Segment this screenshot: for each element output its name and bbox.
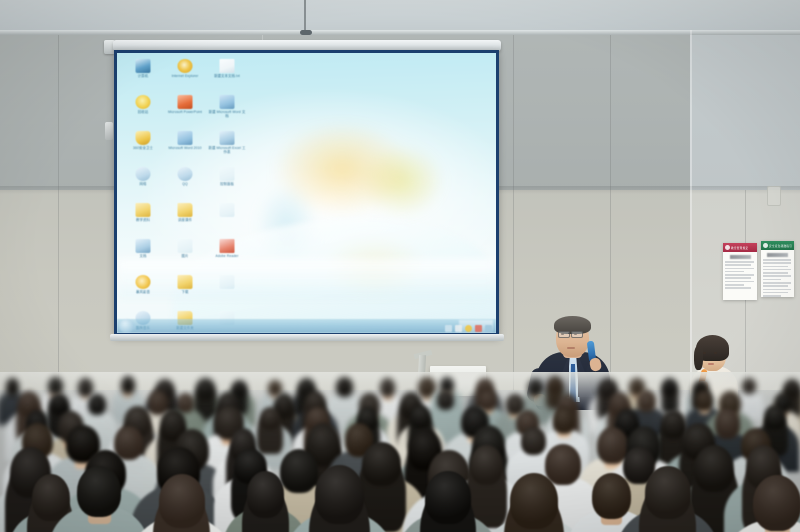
network-tray-icon[interactable] [445,325,452,332]
downloads-folder-icon [178,275,193,289]
audience-member-head [260,407,281,430]
poster-seal-icon [763,243,768,248]
security-tray-icon[interactable] [465,325,472,332]
desktop-icon-label: 新建 Microsoft Excel 工作表 [207,146,247,154]
word-document-icon [220,95,235,109]
desktop-icon-row: 360安全卫士Microsoft Word 2010新建 Microsoft E… [123,130,253,162]
taskbar[interactable] [117,319,496,333]
desktop-icon[interactable]: 教学资料 [123,202,163,234]
audience-member-head [247,471,284,517]
desktop-icon[interactable]: Internet Explorer [165,58,205,90]
desktop-icon-row: 文档图片Adobe Reader [123,238,253,270]
lecture-hall-photo: 计算机Internet Explorer新建文本文档.txt回收站Microso… [0,0,800,532]
desktop-icon[interactable]: 讲座课件 [165,202,205,234]
audience-member-head [32,474,70,522]
speaker-mouth [567,347,575,349]
audience-member-head [753,475,800,531]
folder-icon [178,203,193,217]
poster-title-bar [730,255,751,259]
ceiling-lip [0,30,800,35]
desktop-icon-label: 控制面板 [207,182,247,186]
desktop-icon[interactable]: 新建 Microsoft Excel 工作表 [207,130,247,162]
desktop-icon-label: QQ [165,182,205,186]
computer-icon [136,59,151,73]
desktop-icon[interactable]: Adobe Reader [207,238,247,270]
audience-member-head [637,390,656,411]
audience-member-head [88,394,105,415]
poster-seal-icon [725,245,730,250]
interpreter-eye-left [703,352,706,354]
update-tray-icon[interactable] [475,325,482,332]
wall-seam [513,35,514,390]
poster-body [723,252,757,289]
word-icon [178,131,193,145]
start-button[interactable] [119,319,134,333]
audience-member-head [510,473,559,529]
glasses-lens-right-icon [571,331,583,338]
wall-corner [690,30,692,390]
desktop-icon[interactable]: Microsoft PowerPoint [165,94,205,126]
media-player-icon [136,275,151,289]
audience-member-head [437,390,454,409]
desktop-icon-row: 网络QQ控制面板 [123,166,253,198]
poster-title-bar [767,253,787,257]
desktop-icon[interactable]: 新建 Microsoft Word 文档 [207,94,247,126]
audience-member-head [196,378,214,399]
desktop-icon-label: 网络 [123,182,163,186]
notice-poster-green: 安全应急疏散指引 [761,241,794,297]
desktop-icon[interactable] [207,202,247,234]
desktop-icon-label: 360安全卫士 [123,146,163,150]
screen-bottom-weight-bar [110,334,504,341]
desktop-icon[interactable]: 回收站 [123,94,163,126]
right-wall-upper [690,30,800,192]
desktop-icon[interactable]: 下载 [165,274,205,306]
audience-member-head [662,378,677,395]
ceiling-hook [304,0,306,34]
shield-icon [136,131,151,145]
pictures-icon [178,239,193,253]
desktop-icon-label: Adobe Reader [207,254,247,258]
desktop-icon-label: 下载 [165,290,205,294]
poster-header-text: 教室管理规定 [731,246,748,250]
desktop-icon-label: 回收站 [123,110,163,114]
poster-body [761,250,794,297]
audience-member-head [315,465,365,524]
desktop-icon[interactable]: 计算机 [123,58,163,90]
wall-seam [58,35,59,390]
wall-plate [105,122,113,140]
pdf-icon [220,239,235,253]
audience-member-head [715,408,741,439]
audience-member-head [742,378,756,394]
audience-member-head [764,405,785,430]
desktop-icon-label: Microsoft PowerPoint [165,110,205,114]
folder-icon [136,203,151,217]
audience-member-head [553,407,575,434]
interpreter-mouth [708,363,714,365]
audience-member-head [410,405,431,429]
desktop-icon-label: 图片 [165,254,205,258]
notice-poster-red: 教室管理规定 [723,243,757,300]
poster-header: 教室管理规定 [723,243,757,252]
desktop-icon[interactable]: 网络 [123,166,163,198]
desktop-icon[interactable]: 360安全卫士 [123,130,163,162]
desktop-icon-row: 回收站Microsoft PowerPoint新建 Microsoft Word… [123,94,253,126]
desktop-icon[interactable]: 文档 [123,238,163,270]
desktop-icon-label: 讲座课件 [165,218,205,222]
language-tray-icon[interactable] [485,325,492,332]
wall-seam [610,35,611,390]
desktop-icon-row: 暴风影音下载 [123,274,253,306]
audience-member-head [159,474,205,528]
projected-desktop: 计算机Internet Explorer新建文本文档.txt回收站Microso… [117,53,496,333]
audience-member-head [77,466,121,517]
excel-icon [220,131,235,145]
audience-member-head [470,445,503,485]
audience-member-head [425,471,470,523]
audience-member-head [592,473,631,519]
poster-header: 安全应急疏散指引 [761,241,794,250]
projection-screen: 计算机Internet Explorer新建文本文档.txt回收站Microso… [114,50,499,336]
audience-member-head [645,466,691,520]
interpreter-eye-right [714,352,717,354]
desktop-icon[interactable]: QQ [165,166,205,198]
audience-seating [0,372,800,532]
audience-member-head [78,378,93,397]
desktop-icon[interactable]: 新建文本文档.txt [207,58,247,90]
network-icon [136,167,151,181]
blank-icon [220,203,235,217]
desktop-icon[interactable]: Microsoft Word 2010 [165,130,205,162]
desktop-icon[interactable]: 暴风影音 [123,274,163,306]
desktop-icon-row: 计算机Internet Explorer新建文本文档.txt [123,58,253,90]
audience-member-head [121,376,135,394]
audience-member-head [6,378,19,395]
interpreter-hair-side [694,346,703,370]
desktop-icon-label: 新建文本文档.txt [207,74,247,78]
recycle-bin-icon [136,95,151,109]
desktop-icon-label: 暴风影音 [123,290,163,294]
audience-member-head [521,427,546,455]
poster-header-text: 安全应急疏散指引 [769,244,792,248]
audience-member-head [177,393,195,413]
desktop-icon-label: Microsoft Word 2010 [165,146,205,150]
desktop-icon-label: Internet Explorer [165,74,205,78]
documents-folder-icon [136,239,151,253]
audience-member-head [380,378,395,397]
audience-member-head [548,376,562,392]
audience-member-head [280,449,318,493]
system-tray[interactable] [445,325,492,332]
audience-member-head [545,444,581,484]
desktop-icon[interactable]: 控制面板 [207,166,247,198]
ie-icon [178,59,193,73]
blank-icon [220,275,235,289]
desktop-icon-label: 新建 Microsoft Word 文档 [207,110,247,118]
qq-icon [178,167,193,181]
glasses-bridge-icon [568,333,572,334]
text-document-icon [220,59,235,73]
desktop-icon[interactable]: 图片 [165,238,205,270]
volume-tray-icon[interactable] [455,325,462,332]
desktop-icon-label: 计算机 [123,74,163,78]
desktop-icon-label: 教学资料 [123,218,163,222]
desktop-icon-row: 教学资料讲座课件 [123,202,253,234]
audience-member-head [694,445,734,493]
audience-member-head [695,390,713,411]
ceiling-hook-end [300,30,312,35]
control-panel-icon [220,167,235,181]
audience-member-head [362,442,401,486]
powerpoint-icon [178,95,193,109]
wall-outlet [767,186,781,206]
desktop-icon-grid: 计算机Internet Explorer新建文本文档.txt回收站Microso… [123,58,253,333]
audience-member-head [336,377,353,397]
desktop-icon[interactable] [207,274,247,306]
desktop-icon-label: 文档 [123,254,163,258]
